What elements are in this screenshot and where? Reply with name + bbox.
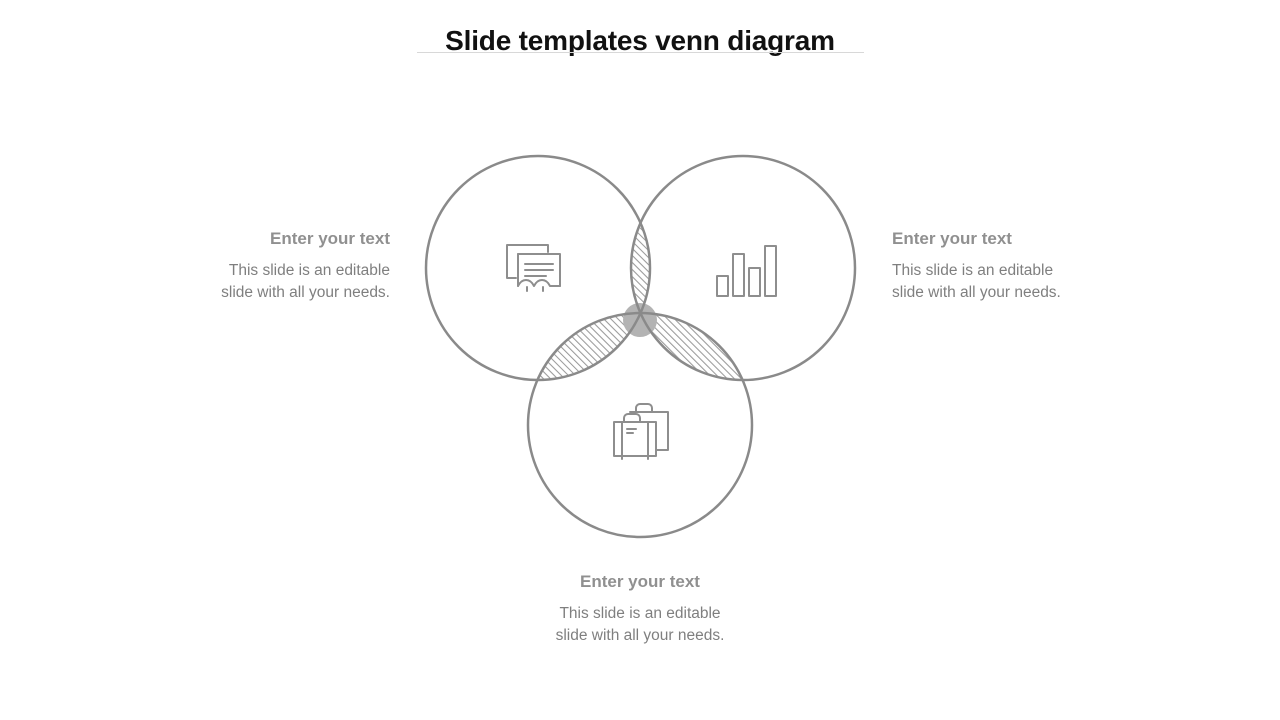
venn-circle-bottom[interactable] <box>528 313 752 537</box>
text-block-bottom-body-line2: slide with all your needs. <box>490 625 790 647</box>
title-divider <box>417 52 864 53</box>
text-block-right-body-line2: slide with all your needs. <box>892 282 1172 304</box>
text-block-right-heading[interactable]: Enter your text <box>892 228 1172 251</box>
text-block-left-body-line2: slide with all your needs. <box>110 282 390 304</box>
venn-circle-left[interactable] <box>426 156 650 380</box>
text-block-bottom-body[interactable]: This slide is an editable slide with all… <box>490 603 790 647</box>
text-block-right-body-line1: This slide is an editable <box>892 260 1172 282</box>
text-block-right-body[interactable]: This slide is an editable slide with all… <box>892 260 1172 304</box>
briefcases-icon <box>614 404 668 459</box>
text-block-left-body[interactable]: This slide is an editable slide with all… <box>110 260 390 304</box>
venn-diagram <box>400 130 880 560</box>
text-block-right: Enter your text This slide is an editabl… <box>892 228 1172 304</box>
text-block-bottom: Enter your text This slide is an editabl… <box>490 571 790 647</box>
text-block-left-body-line1: This slide is an editable <box>110 260 390 282</box>
text-block-left: Enter your text This slide is an editabl… <box>110 228 390 304</box>
text-block-left-heading[interactable]: Enter your text <box>110 228 390 251</box>
text-block-bottom-heading[interactable]: Enter your text <box>490 571 790 594</box>
certificate-documents-icon <box>507 245 560 291</box>
text-block-bottom-body-line1: This slide is an editable <box>490 603 790 625</box>
bar-chart-icon <box>717 246 776 296</box>
